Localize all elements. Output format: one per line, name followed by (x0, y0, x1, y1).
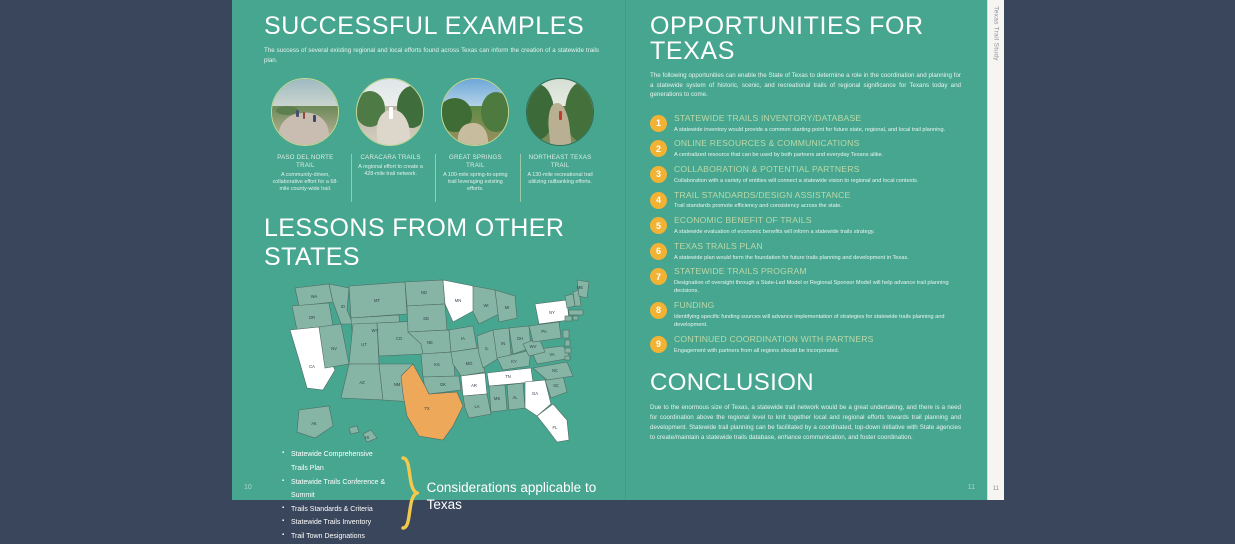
conclusion-body: Due to the enormous size of Texas, a sta… (650, 403, 961, 443)
svg-text:CO: CO (395, 336, 402, 341)
lessons-title: LESSONS FROM OTHER STATES (264, 214, 599, 272)
considerations-bullets: Statewide Comprehensive Trails Plan Stat… (282, 448, 389, 543)
svg-text:FL: FL (552, 425, 558, 430)
example-photo-4 (520, 78, 599, 146)
svg-text:MI: MI (504, 305, 509, 310)
example-name: NORTHEAST TEXAS TRAIL (525, 154, 595, 170)
map-svg: WAORCA NVIDMT WYUTAZ NMCOND SDNEKS OKTXM… (267, 276, 597, 444)
svg-text:HI: HI (364, 435, 368, 440)
page-number-left: 10 (244, 484, 252, 491)
example-caption-2: CARACARA TRAILS A regional effort to cre… (351, 154, 430, 202)
opportunity-number-badge: 9 (650, 336, 667, 353)
opportunity-description: Designation of oversight through a State… (674, 279, 961, 295)
opportunity-item-8: 8 FUNDING Identifying specific funding s… (650, 301, 961, 329)
svg-text:LA: LA (474, 404, 479, 409)
opportunity-title: ONLINE RESOURCES & COMMUNICATIONS (674, 139, 961, 148)
opportunity-item-6: 6 TEXAS TRAILS PLAN A statewide plan wou… (650, 242, 961, 262)
opportunity-item-5: 5 ECONOMIC BENEFIT OF TRAILS A statewide… (650, 216, 961, 236)
svg-text:WA: WA (310, 294, 317, 299)
opportunity-title: TEXAS TRAILS PLAN (674, 242, 961, 251)
opportunities-intro: The following opportunities can enable t… (650, 71, 961, 100)
svg-text:KS: KS (434, 362, 440, 367)
book-spread: SUCCESSFUL EXAMPLES The success of sever… (232, 0, 1004, 500)
state-MD (565, 348, 571, 353)
example-photo-1 (266, 78, 345, 146)
svg-text:NV: NV (331, 346, 337, 351)
opportunity-item-1: 1 STATEWIDE TRAILS INVENTORY/DATABASE A … (650, 114, 961, 134)
opportunity-title: STATEWIDE TRAILS PROGRAM (674, 267, 961, 276)
considerations-block: Statewide Comprehensive Trails Plan Stat… (264, 448, 599, 543)
opportunity-number-badge: 7 (650, 268, 667, 285)
svg-text:UT: UT (361, 342, 367, 347)
svg-text:OH: OH (516, 336, 522, 341)
example-captions: PASO DEL NORTE TRAIL A community-driven,… (264, 154, 599, 202)
example-photo-3 (436, 78, 515, 146)
svg-text:NY: NY (549, 310, 555, 315)
svg-text:SD: SD (423, 316, 429, 321)
example-caption-3: GREAT SPRINGS TRAIL A 100-mile spring-to… (435, 154, 514, 202)
svg-text:ID: ID (340, 304, 344, 309)
svg-text:MO: MO (465, 361, 472, 366)
opportunity-number-badge: 8 (650, 302, 667, 319)
opportunity-number-badge: 1 (650, 115, 667, 132)
opportunity-number-badge: 6 (650, 243, 667, 260)
state-NJ (563, 330, 569, 338)
svg-text:NM: NM (393, 382, 400, 387)
svg-text:ND: ND (420, 290, 426, 295)
svg-text:MT: MT (373, 298, 379, 303)
svg-text:PA: PA (541, 329, 546, 334)
opportunity-number-badge: 5 (650, 217, 667, 234)
opportunity-item-3: 3 COLLABORATION & POTENTIAL PARTNERS Col… (650, 165, 961, 185)
state-MA (569, 310, 583, 315)
opportunity-description: Identifying specific funding sources wil… (674, 313, 961, 329)
svg-text:MN: MN (454, 298, 461, 303)
state-RI (573, 316, 578, 320)
curly-brace-icon (401, 456, 419, 535)
svg-text:OK: OK (439, 382, 445, 387)
opportunities-title: OPPORTUNITIES FOR TEXAS (650, 14, 961, 64)
opportunity-item-7: 7 STATEWIDE TRAILS PROGRAM Designation o… (650, 267, 961, 295)
opportunity-title: CONTINUED COORDINATION WITH PARTNERS (674, 335, 961, 344)
state-DE (565, 340, 570, 346)
list-item: Trail Town Designations (282, 530, 389, 544)
opportunity-description: A statewide inventory would provide a co… (674, 126, 961, 134)
svg-text:ME: ME (576, 285, 582, 290)
opportunity-number-badge: 3 (650, 166, 667, 183)
svg-text:GA: GA (531, 391, 537, 396)
opportunity-description: A statewide evaluation of economic benef… (674, 228, 961, 236)
svg-text:CA: CA (309, 364, 315, 369)
example-caption-1: PASO DEL NORTE TRAIL A community-driven,… (266, 154, 345, 202)
example-photos (264, 78, 599, 146)
example-name: PASO DEL NORTE TRAIL (270, 154, 341, 170)
list-item: Statewide Comprehensive Trails Plan (282, 448, 389, 475)
svg-text:AL: AL (512, 395, 518, 400)
svg-text:SC: SC (553, 383, 559, 388)
svg-text:TX: TX (424, 406, 430, 411)
example-name: CARACARA TRAILS (356, 154, 426, 162)
svg-text:MS: MS (493, 396, 499, 401)
opportunity-number-badge: 4 (650, 192, 667, 209)
svg-text:WI: WI (483, 303, 488, 308)
example-description: A regional effort to create a 428-mile t… (356, 164, 426, 178)
state-HI-2 (349, 426, 359, 434)
example-photo-2 (351, 78, 430, 146)
state-DC (565, 356, 570, 360)
svg-text:AZ: AZ (359, 380, 365, 385)
svg-text:WV: WV (529, 344, 536, 349)
conclusion-title: CONCLUSION (650, 369, 961, 397)
opportunity-item-2: 2 ONLINE RESOURCES & COMMUNICATIONS A ce… (650, 139, 961, 159)
svg-text:IN: IN (500, 341, 504, 346)
successful-examples-intro: The success of several existing regional… (264, 46, 599, 65)
svg-text:NE: NE (427, 340, 433, 345)
opportunity-title: FUNDING (674, 301, 961, 310)
successful-examples-title: SUCCESSFUL EXAMPLES (264, 14, 599, 39)
opportunity-title: ECONOMIC BENEFIT OF TRAILS (674, 216, 961, 225)
svg-text:WY: WY (371, 328, 378, 333)
right-page: OPPORTUNITIES FOR TEXAS The following op… (625, 0, 987, 500)
example-name: GREAT SPRINGS TRAIL (440, 154, 510, 170)
list-item: Trails Standards & Criteria (282, 503, 389, 517)
us-states-map: WAORCA NVIDMT WYUTAZ NMCOND SDNEKS OKTXM… (264, 276, 599, 444)
list-item: Statewide Trails Conference & Summit (282, 476, 389, 503)
opportunity-title: STATEWIDE TRAILS INVENTORY/DATABASE (674, 114, 961, 123)
opportunity-title: TRAIL STANDARDS/DESIGN ASSISTANCE (674, 191, 961, 200)
svg-text:OR: OR (308, 315, 314, 320)
opportunity-description: Trail standards promote efficiency and c… (674, 202, 961, 210)
svg-text:KY: KY (511, 359, 517, 364)
opportunity-description: A centralized resource that can be used … (674, 151, 961, 159)
list-item: Statewide Trails Inventory (282, 516, 389, 530)
opportunity-description: A statewide plan would form the foundati… (674, 254, 961, 262)
opportunity-item-9: 9 CONTINUED COORDINATION WITH PARTNERS E… (650, 335, 961, 355)
left-page: SUCCESSFUL EXAMPLES The success of sever… (232, 0, 625, 500)
svg-text:AR: AR (471, 383, 477, 388)
book-page-edge: Texas Trail Study 11 (987, 0, 1004, 500)
opportunity-title: COLLABORATION & POTENTIAL PARTNERS (674, 165, 961, 174)
opportunity-item-4: 4 TRAIL STANDARDS/DESIGN ASSISTANCE Trai… (650, 191, 961, 211)
edge-page-number: 11 (988, 486, 1004, 492)
example-caption-4: NORTHEAST TEXAS TRAIL A 130-mile recreat… (520, 154, 599, 202)
opportunity-description: Engagement with partners from all region… (674, 347, 961, 355)
considerations-label: Considerations applicable to Texas (427, 479, 599, 514)
page-number-right: 11 (968, 484, 975, 491)
example-description: A community-driven, collaborative effort… (270, 172, 341, 193)
svg-text:AK: AK (311, 421, 317, 426)
opportunity-description: Collaboration with a variety of entities… (674, 177, 961, 185)
svg-text:NC: NC (551, 368, 557, 373)
example-description: A 100-mile spring-to-spring trail levera… (440, 172, 510, 193)
example-description: A 130-mile recreational trail utilizing … (525, 172, 595, 186)
svg-text:IA: IA (461, 336, 465, 341)
state-CT (565, 316, 572, 321)
svg-text:VA: VA (549, 352, 554, 357)
svg-text:TN: TN (505, 374, 511, 379)
opportunities-list: 1 STATEWIDE TRAILS INVENTORY/DATABASE A … (650, 114, 961, 355)
opportunity-number-badge: 2 (650, 140, 667, 157)
spine-label: Texas Trail Study (993, 6, 1000, 61)
